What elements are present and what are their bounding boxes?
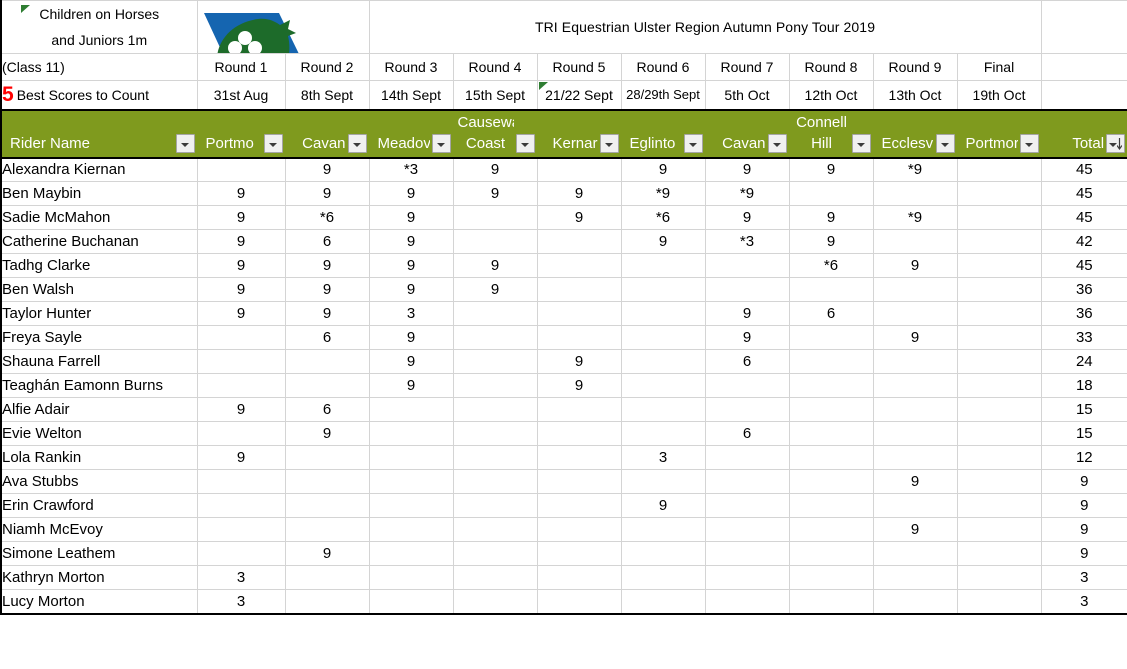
score-cell-round-9 [873,542,957,566]
round-name-1: Round 1 [197,54,285,81]
best-scores-label: Best Scores to Count [17,87,149,103]
rider-name-cell: Tadhg Clarke [1,254,197,278]
score-cell-round-6: 3 [621,446,705,470]
score-cell-round-2: 9 [285,278,369,302]
column-header-rider-name-label: Rider Name [6,134,174,154]
score-cell-round-1 [197,422,285,446]
total-cell: 45 [1041,206,1127,230]
score-cell-round-9: 9 [873,326,957,350]
score-cell-round-4 [453,446,537,470]
column-header-final[interactable]: Portmor [957,110,1041,158]
rider-name-cell: Sadie McMahon [1,206,197,230]
score-cell-round-10 [957,182,1041,206]
score-cell-round-3: 9 [369,374,453,398]
score-cell-round-9 [873,230,957,254]
score-cell-round-3 [369,422,453,446]
score-cell-round-3: 9 [369,206,453,230]
results-table: Children on Horses and Juniors 1m TRI [0,0,1127,615]
table-row[interactable]: Simone Leathem99 [1,542,1127,566]
rider-name-cell: Ben Maybin [1,182,197,206]
score-cell-round-10 [957,446,1041,470]
table-row[interactable]: Kathryn Morton33 [1,566,1127,590]
filter-button-final[interactable] [1020,134,1039,153]
column-header-round-9-label: Ecclesvi [878,134,934,154]
table-row[interactable]: Tadhg Clarke9999*6945 [1,254,1127,278]
total-cell: 3 [1041,566,1127,590]
score-cell-round-8 [789,422,873,446]
score-cell-round-8: 9 [789,158,873,182]
total-cell: 9 [1041,542,1127,566]
score-cell-round-7 [705,470,789,494]
score-cell-round-6 [621,302,705,326]
round-name-6: Round 6 [621,54,705,81]
score-cell-round-4 [453,566,537,590]
score-cell-round-9 [873,182,957,206]
score-cell-round-3 [369,542,453,566]
round-name-9: Round 9 [873,54,957,81]
score-cell-round-3: 9 [369,182,453,206]
total-cell: 45 [1041,254,1127,278]
score-cell-round-2 [285,350,369,374]
class-title-line1: Children on Horses [2,1,197,27]
score-cell-round-2 [285,566,369,590]
score-cell-round-5 [537,278,621,302]
filter-button-rider-name[interactable] [176,134,195,153]
score-cell-round-1: 9 [197,398,285,422]
table-row[interactable]: Freya Sayle699933 [1,326,1127,350]
results-rows: Alexandra Kiernan9*39999*945Ben Maybin99… [1,158,1127,614]
round-date-5: 21/22 Sept [537,81,621,110]
round-date-row-spacer [1041,81,1127,110]
score-cell-round-8 [789,470,873,494]
score-cell-round-1 [197,518,285,542]
score-cell-round-4 [453,590,537,614]
score-cell-round-1: 9 [197,278,285,302]
round-date-row: 5Best Scores to Count 31st Aug 8th Sept … [1,81,1127,110]
round-date-6: 28/29th Sept [621,81,705,110]
score-cell-round-6 [621,254,705,278]
score-cell-round-4 [453,374,537,398]
score-cell-round-3: 9 [369,326,453,350]
filter-button-round-8[interactable] [852,134,871,153]
score-cell-round-4 [453,398,537,422]
score-cell-round-4 [453,494,537,518]
total-cell: 33 [1041,326,1127,350]
score-cell-round-5 [537,158,621,182]
score-cell-round-6: 9 [621,230,705,254]
score-cell-round-9 [873,302,957,326]
total-cell: 45 [1041,182,1127,206]
score-cell-round-2: 9 [285,422,369,446]
score-cell-round-2: 6 [285,230,369,254]
score-cell-round-8: *6 [789,254,873,278]
round-name-8: Round 8 [789,54,873,81]
score-cell-round-9 [873,590,957,614]
score-cell-round-1: 9 [197,302,285,326]
score-cell-round-4 [453,326,537,350]
score-cell-round-9 [873,398,957,422]
score-cell-round-5 [537,590,621,614]
score-cell-round-1: 9 [197,206,285,230]
score-cell-round-1: 3 [197,590,285,614]
score-cell-round-2 [285,374,369,398]
score-cell-round-7: 9 [705,206,789,230]
column-header-round-6[interactable]: Eglinto [621,110,705,158]
score-cell-round-6 [621,326,705,350]
score-cell-round-2 [285,590,369,614]
round-name-3: Round 3 [369,54,453,81]
score-cell-round-5 [537,326,621,350]
score-cell-round-8 [789,566,873,590]
score-cell-round-10 [957,566,1041,590]
score-cell-round-10 [957,302,1041,326]
score-cell-round-7 [705,398,789,422]
total-cell: 9 [1041,470,1127,494]
score-cell-round-8 [789,446,873,470]
score-cell-round-9 [873,278,957,302]
total-cell: 3 [1041,590,1127,614]
column-header-round-7[interactable]: Cavan [705,110,789,158]
score-cell-round-6 [621,350,705,374]
rider-name-cell: Shauna Farrell [1,350,197,374]
score-cell-round-9 [873,566,957,590]
score-cell-round-2: 9 [285,302,369,326]
table-row[interactable]: Sadie McMahon9*699*699*945 [1,206,1127,230]
score-cell-round-1 [197,326,285,350]
table-row[interactable]: Ava Stubbs99 [1,470,1127,494]
score-cell-round-7: 6 [705,422,789,446]
score-cell-round-4: 9 [453,278,537,302]
score-cell-round-9: 9 [873,518,957,542]
best-scores-count: 5 [2,83,14,106]
score-cell-round-5 [537,542,621,566]
score-cell-round-7 [705,254,789,278]
score-cell-round-8 [789,374,873,398]
class-label: (Class 11) [1,54,197,81]
score-cell-round-6: 9 [621,494,705,518]
total-cell: 36 [1041,278,1127,302]
score-cell-round-8 [789,398,873,422]
round-name-row-spacer [1041,54,1127,81]
score-cell-round-8 [789,326,873,350]
column-header-round-6-label: Eglinto [626,134,682,154]
score-cell-round-8 [789,494,873,518]
score-cell-round-6 [621,470,705,494]
rider-name-cell: Teaghán Eamonn Burns [1,374,197,398]
column-header-round-4-label: Causeway Coast [458,112,514,154]
score-cell-round-1: 9 [197,446,285,470]
score-cell-round-1: 9 [197,182,285,206]
table-row[interactable]: Niamh McEvoy99 [1,518,1127,542]
score-cell-round-1 [197,542,285,566]
score-cell-round-5 [537,230,621,254]
score-cell-round-2: 6 [285,398,369,422]
score-cell-round-6 [621,566,705,590]
score-cell-round-10 [957,374,1041,398]
score-cell-round-7 [705,590,789,614]
rider-name-cell: Taylor Hunter [1,302,197,326]
filter-button-total-sorted-descending[interactable] [1106,134,1125,153]
score-cell-round-10 [957,590,1041,614]
score-cell-round-3 [369,590,453,614]
cell-comment-marker-icon [539,82,548,90]
score-cell-round-3 [369,398,453,422]
score-cell-round-10 [957,398,1041,422]
table-row[interactable]: Alexandra Kiernan9*39999*945 [1,158,1127,182]
round-name-row: (Class 11) Round 1 Round 2 Round 3 Round… [1,54,1127,81]
rider-name-cell: Evie Welton [1,422,197,446]
column-header-round-8[interactable]: Connell Hill [789,110,873,158]
score-cell-round-7: 6 [705,350,789,374]
table-row[interactable]: Shauna Farrell99624 [1,350,1127,374]
score-cell-round-2 [285,446,369,470]
score-cell-round-2: 9 [285,254,369,278]
score-cell-round-9 [873,374,957,398]
table-row[interactable]: Catherine Buchanan9699*3942 [1,230,1127,254]
score-cell-round-3: *3 [369,158,453,182]
round-date-1: 31st Aug [197,81,285,110]
score-cell-round-4 [453,542,537,566]
score-cell-round-8 [789,278,873,302]
table-row[interactable]: Evie Welton9615 [1,422,1127,446]
score-cell-round-4: 9 [453,254,537,278]
score-cell-round-2 [285,470,369,494]
score-cell-round-1 [197,494,285,518]
score-cell-round-6: 9 [621,158,705,182]
filter-button-round-5[interactable] [600,134,619,153]
score-cell-round-10 [957,158,1041,182]
filter-button-round-4[interactable] [516,134,535,153]
rider-name-cell: Ava Stubbs [1,470,197,494]
score-cell-round-4 [453,350,537,374]
rider-name-cell: Erin Crawford [1,494,197,518]
score-cell-round-5 [537,446,621,470]
score-cell-round-7: 9 [705,158,789,182]
score-cell-round-5: 9 [537,206,621,230]
filter-button-round-2[interactable] [348,134,367,153]
score-cell-round-1 [197,470,285,494]
score-cell-round-1 [197,158,285,182]
score-cell-round-4 [453,518,537,542]
score-cell-round-6 [621,518,705,542]
score-cell-round-8: 9 [789,206,873,230]
round-date-9: 13th Oct [873,81,957,110]
column-header-total-label: Total [1046,134,1105,154]
score-cell-round-5 [537,470,621,494]
score-cell-round-10 [957,230,1041,254]
filter-button-round-3[interactable] [432,134,451,153]
score-cell-round-3: 9 [369,254,453,278]
score-cell-round-10 [957,494,1041,518]
score-cell-round-7 [705,518,789,542]
score-cell-round-7 [705,374,789,398]
score-cell-round-5: 9 [537,182,621,206]
total-cell: 42 [1041,230,1127,254]
showjumping-ireland-ulster-region-logo: Showjumping Ireland Ulster Region [198,7,326,54]
score-cell-round-4 [453,230,537,254]
score-cell-round-2: *6 [285,206,369,230]
score-cell-round-5 [537,302,621,326]
score-cell-round-5: 9 [537,350,621,374]
score-cell-round-3 [369,518,453,542]
score-cell-round-1: 9 [197,254,285,278]
rider-name-cell: Alexandra Kiernan [1,158,197,182]
score-cell-round-3: 9 [369,350,453,374]
score-cell-round-2 [285,518,369,542]
score-cell-round-1 [197,350,285,374]
score-cell-round-4 [453,206,537,230]
score-cell-round-1: 9 [197,230,285,254]
round-name-7: Round 7 [705,54,789,81]
title-band-spacer [1041,1,1127,54]
rider-name-cell: Kathryn Morton [1,566,197,590]
column-header-rider-name[interactable]: Rider Name [1,110,197,158]
score-cell-round-3 [369,494,453,518]
class-title-line2: and Juniors 1m [2,27,197,53]
score-cell-round-8 [789,182,873,206]
table-row[interactable]: Ben Maybin99999*9*945 [1,182,1127,206]
column-header-round-2[interactable]: Cavan [285,110,369,158]
column-header-round-2-label: Cavan [290,134,346,154]
filter-button-round-9[interactable] [936,134,955,153]
filter-button-round-6[interactable] [684,134,703,153]
round-date-2: 8th Sept [285,81,369,110]
logos-cell: TRI Showjumping Ireland Ulster Region [197,1,369,54]
round-date-3: 14th Sept [369,81,453,110]
total-cell: 15 [1041,422,1127,446]
score-cell-round-1: 3 [197,566,285,590]
score-cell-round-3 [369,566,453,590]
filter-button-round-1[interactable] [264,134,283,153]
rider-name-cell: Alfie Adair [1,398,197,422]
score-cell-round-9 [873,446,957,470]
table-row[interactable]: Teaghán Eamonn Burns9918 [1,374,1127,398]
score-cell-round-2: 6 [285,326,369,350]
score-cell-round-10 [957,350,1041,374]
score-cell-round-5 [537,494,621,518]
column-header-round-9[interactable]: Ecclesvi [873,110,957,158]
score-cell-round-7 [705,446,789,470]
column-header-round-7-label: Cavan [710,134,766,154]
cell-comment-marker-icon [21,5,30,13]
score-cell-round-3: 9 [369,230,453,254]
score-cell-round-10 [957,278,1041,302]
score-cell-round-7: *9 [705,182,789,206]
table-row[interactable]: Erin Crawford99 [1,494,1127,518]
round-name-final: Final [957,54,1041,81]
score-cell-round-8: 6 [789,302,873,326]
round-name-2: Round 2 [285,54,369,81]
score-cell-round-8 [789,350,873,374]
score-cell-round-8 [789,518,873,542]
score-cell-round-8: 9 [789,230,873,254]
total-cell: 9 [1041,518,1127,542]
score-cell-round-2 [285,494,369,518]
score-cell-round-10 [957,422,1041,446]
score-cell-round-4 [453,470,537,494]
total-cell: 45 [1041,158,1127,182]
score-cell-round-3: 9 [369,278,453,302]
score-cell-round-9: *9 [873,158,957,182]
score-cell-round-10 [957,470,1041,494]
score-cell-round-6: *9 [621,182,705,206]
score-cell-round-9 [873,494,957,518]
score-cell-round-6 [621,278,705,302]
score-cell-round-5 [537,518,621,542]
score-cell-round-7 [705,278,789,302]
score-cell-round-8 [789,590,873,614]
score-cell-round-6 [621,590,705,614]
score-cell-round-9: 9 [873,254,957,278]
score-cell-round-2: 9 [285,542,369,566]
rider-name-cell: Niamh McEvoy [1,518,197,542]
column-header-total[interactable]: Total [1041,110,1127,158]
score-cell-round-10 [957,542,1041,566]
sort-descending-icon [1117,138,1122,150]
score-cell-round-7: 9 [705,302,789,326]
round-date-4: 15th Sept [453,81,537,110]
total-cell: 15 [1041,398,1127,422]
round-date-8: 12th Oct [789,81,873,110]
score-cell-round-5 [537,566,621,590]
table-row[interactable]: Lola Rankin9312 [1,446,1127,470]
round-date-7: 5th Oct [705,81,789,110]
score-cell-round-4 [453,422,537,446]
round-name-4: Round 4 [453,54,537,81]
column-header-round-3[interactable]: Meadov [369,110,453,158]
score-cell-round-9: *9 [873,206,957,230]
score-cell-round-10 [957,326,1041,350]
score-cell-round-4 [453,302,537,326]
spreadsheet-sheet: Children on Horses and Juniors 1m TRI [0,0,1127,669]
score-cell-round-1 [197,374,285,398]
score-cell-round-6: *6 [621,206,705,230]
rider-name-cell: Ben Walsh [1,278,197,302]
column-header-round-5[interactable]: Kernar [537,110,621,158]
score-cell-round-9 [873,422,957,446]
score-cell-round-3 [369,446,453,470]
round-name-5: Round 5 [537,54,621,81]
round-date-5-text: 21/22 Sept [545,87,613,103]
rider-name-cell: Simone Leathem [1,542,197,566]
table-row[interactable]: Taylor Hunter9939636 [1,302,1127,326]
rider-name-cell: Lola Rankin [1,446,197,470]
rider-name-cell: Freya Sayle [1,326,197,350]
rider-name-cell: Lucy Morton [1,590,197,614]
score-cell-round-6 [621,542,705,566]
score-cell-round-4: 9 [453,158,537,182]
score-cell-round-2: 9 [285,182,369,206]
score-cell-round-9 [873,350,957,374]
table-row[interactable]: Lucy Morton33 [1,590,1127,614]
score-cell-round-3: 3 [369,302,453,326]
column-header-final-label: Portmor [962,134,1018,154]
score-cell-round-7: 9 [705,326,789,350]
table-row[interactable]: Alfie Adair9615 [1,398,1127,422]
column-header-round-4[interactable]: Causeway Coast [453,110,537,158]
score-cell-round-6 [621,422,705,446]
score-cell-round-4: 9 [453,182,537,206]
score-cell-round-7: *3 [705,230,789,254]
column-header-round-1[interactable]: Portmo [197,110,285,158]
total-cell: 18 [1041,374,1127,398]
score-cell-round-10 [957,254,1041,278]
filter-button-round-7[interactable] [768,134,787,153]
column-header-round-3-label: Meadov [374,134,430,154]
score-cell-round-8 [789,542,873,566]
table-row[interactable]: Ben Walsh999936 [1,278,1127,302]
total-cell: 9 [1041,494,1127,518]
